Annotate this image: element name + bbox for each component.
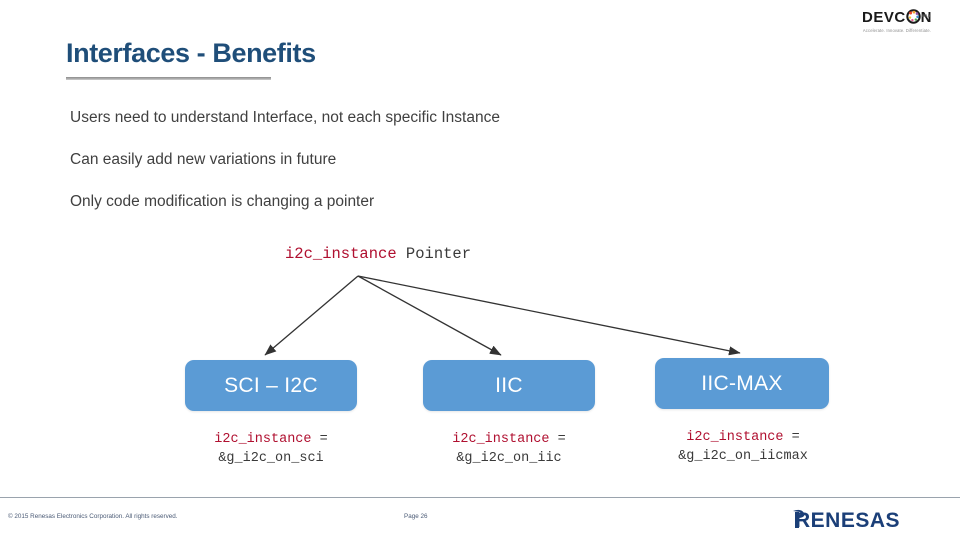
devcon-text-before: DEVC: [862, 9, 906, 26]
node-code-iic-max: i2c_instance = &g_i2c_on_iicmax: [648, 428, 838, 466]
renesas-logo: RENESAS: [793, 508, 948, 534]
pointer-diagram: i2c_instance Pointer SCI – I2C IIC IIC-M…: [0, 0, 960, 540]
devcon-logo: DEVC N2015 Accelerate. Innovate. Differe…: [845, 9, 949, 35]
node-code-lhs: i2c_instance: [214, 432, 311, 447]
node-code-op: =: [550, 432, 566, 447]
node-code-iic: i2c_instance = &g_i2c_on_iic: [423, 430, 595, 468]
node-code-op: =: [784, 430, 800, 445]
arrow-to-sci: [265, 276, 358, 355]
bullet-list: Users need to understand Interface, not …: [70, 108, 710, 234]
pointer-label: i2c_instance Pointer: [285, 245, 471, 263]
node-code-lhs: i2c_instance: [686, 430, 783, 445]
bullet-item: Only code modification is changing a poi…: [70, 192, 710, 212]
devcon-wordmark: DEVC N2015: [862, 9, 932, 26]
arrow-to-iic: [358, 276, 501, 355]
node-box-iic-max[interactable]: IIC-MAX: [655, 358, 829, 409]
node-label: IIC-MAX: [701, 372, 782, 396]
page-title: Interfaces - Benefits: [66, 38, 316, 69]
bullet-item: Users need to understand Interface, not …: [70, 108, 710, 128]
node-code-op: =: [312, 432, 328, 447]
node-code-rhs: &g_i2c_on_iicmax: [648, 447, 838, 466]
svg-text:RENESAS: RENESAS: [795, 509, 900, 532]
diagram-arrows: [0, 0, 960, 540]
node-code-line-1: i2c_instance =: [423, 430, 595, 449]
node-code-lhs: i2c_instance: [452, 432, 549, 447]
node-code-rhs: &g_i2c_on_sci: [185, 449, 357, 468]
devcon-colored-o-icon: [906, 9, 921, 24]
pointer-label-code: i2c_instance: [285, 245, 397, 263]
node-box-sci[interactable]: SCI – I2C: [185, 360, 357, 411]
title-divider: [66, 77, 271, 80]
footer-divider: [0, 497, 960, 498]
bullet-item: Can easily add new variations in future: [70, 150, 710, 170]
node-code-line-1: i2c_instance =: [185, 430, 357, 449]
devcon-year: 2015: [921, 8, 930, 24]
pointer-label-suffix: Pointer: [397, 245, 471, 263]
node-code-rhs: &g_i2c_on_iic: [423, 449, 595, 468]
node-box-iic[interactable]: IIC: [423, 360, 595, 411]
footer-copyright: © 2015 Renesas Electronics Corporation. …: [8, 513, 178, 520]
footer-page-number: Page 26: [404, 513, 427, 520]
devcon-tagline: Accelerate. Innovate. Differentiate.: [845, 28, 949, 33]
arrow-to-iicmax: [358, 276, 740, 353]
node-code-line-1: i2c_instance =: [648, 428, 838, 447]
node-code-sci: i2c_instance = &g_i2c_on_sci: [185, 430, 357, 468]
node-label: IIC: [495, 374, 523, 398]
node-label: SCI – I2C: [224, 374, 318, 398]
